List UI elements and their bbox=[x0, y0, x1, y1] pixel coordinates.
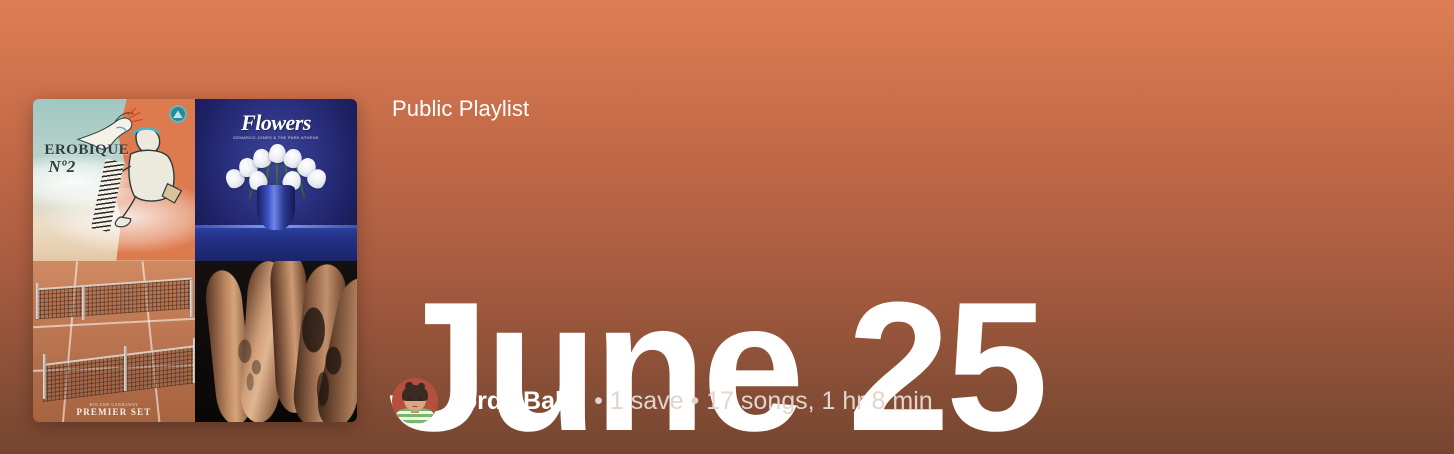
flowers-album-subtitle: DEMARCO JONES & THE PARK ATHENS bbox=[233, 135, 319, 140]
album-art-flowers: Flowers DEMARCO JONES & THE PARK ATHENS bbox=[195, 99, 357, 261]
playlist-stats: • 1 save • 17 songs, 1 hr 8 min bbox=[594, 387, 933, 416]
owner-name[interactable]: Jordy Baby bbox=[448, 387, 584, 416]
limbs-shadow-texture bbox=[234, 332, 270, 397]
avatar-hair bbox=[402, 385, 429, 400]
limbs-tattoo-texture bbox=[295, 293, 357, 416]
flowers-vase bbox=[257, 185, 296, 230]
playlist-meta-row: Jordy Baby • 1 save • 17 songs, 1 hr 8 m… bbox=[392, 378, 933, 424]
avatar-brow-left bbox=[408, 395, 412, 396]
playlist-title[interactable]: June 25 bbox=[387, 274, 1044, 454]
playlist-cover-collage[interactable]: EROBIQUE Nº2 bbox=[33, 99, 357, 422]
avatar-eye-right bbox=[418, 398, 420, 401]
album-art-erobique-no-2: EROBIQUE Nº2 bbox=[33, 99, 195, 261]
flowers-album-title: Flowers bbox=[241, 110, 311, 136]
playlist-visibility-label: Public Playlist bbox=[392, 96, 529, 122]
album-art-premier-set: ROLAND GARRAWAY PREMIER SET bbox=[33, 261, 195, 423]
album-art-limbs-photo bbox=[195, 261, 357, 423]
tennis-net-near bbox=[43, 344, 195, 401]
tennis-net-far bbox=[36, 278, 192, 320]
premier-set-caption: ROLAND GARRAWAY PREMIER SET bbox=[77, 402, 152, 417]
playlist-header-banner: EROBIQUE Nº2 bbox=[0, 0, 1454, 454]
flowers-table-surface bbox=[195, 225, 357, 261]
erobique-album-title: EROBIQUE Nº2 bbox=[44, 143, 129, 177]
owner-avatar[interactable] bbox=[392, 378, 438, 424]
